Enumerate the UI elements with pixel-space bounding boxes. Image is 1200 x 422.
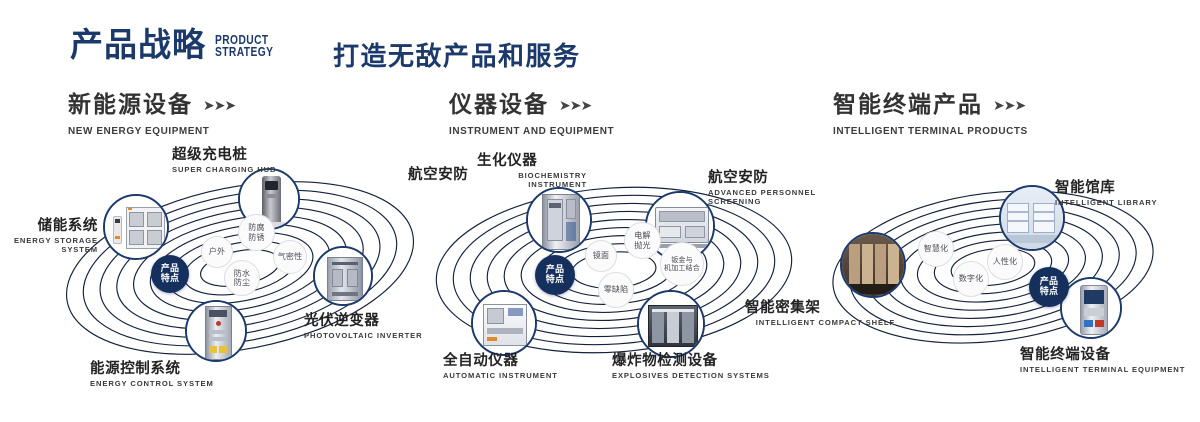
caption-en: INTELLIGENT TERMINAL EQUIPMENT	[1020, 365, 1200, 374]
bubble-product-features[interactable]: 产品 特点	[151, 255, 189, 293]
node-automatic-instrument[interactable]	[471, 290, 537, 356]
battery-cabinet-icon	[105, 196, 167, 258]
bubble-label: 数字化	[959, 274, 984, 284]
kiosk-terminal-icon	[1062, 279, 1120, 337]
section-title-cn: 新能源设备	[68, 94, 193, 117]
bubble-label: 防腐 防锈	[248, 223, 264, 242]
bubble-label: 智慧化	[924, 244, 949, 254]
bubble-label: 电解 抛光	[634, 231, 650, 250]
infographic-page: 产品战略 PRODUCT STRATEGY 打造无敌产品和服务 新能源设备 ➤➤…	[0, 0, 1200, 422]
bubble-label-line2: 特点	[161, 274, 179, 285]
caption-en: AUTOMATIC INSTRUMENT	[443, 371, 593, 380]
bubble-label-line2: 特点	[1040, 287, 1058, 298]
control-cabinet-icon	[187, 302, 245, 360]
bubble-feature-airtight[interactable]: 气密性	[273, 240, 307, 274]
section-title-new-energy: 新能源设备 ➤➤➤ NEW ENERGY EQUIPMENT	[68, 94, 235, 137]
bubble-label: 防水 防尘	[234, 269, 250, 288]
bubble-product-features[interactable]: 产品 特点	[535, 255, 575, 295]
section-title-cn: 智能终端产品	[833, 94, 983, 117]
node-photovoltaic-inverter[interactable]	[313, 246, 373, 306]
caption-en: INTELLIGENT LIBRARY	[1055, 198, 1185, 207]
node-intelligent-compact-shelf[interactable]	[840, 232, 906, 298]
caption-cn: 生化仪器	[477, 153, 587, 169]
bubble-label: 镜面	[593, 251, 609, 261]
bubble-feature-zero-defect[interactable]: 零缺陷	[598, 272, 634, 308]
caption-intelligent-compact-shelf: 智能密集架 INTELLIGENT COMPACT SHELF	[745, 300, 895, 327]
biochemistry-instrument-icon	[528, 189, 590, 251]
section-title-en: INTELLIGENT TERMINAL PRODUCTS	[833, 125, 1028, 137]
page-title: 产品战略 PRODUCT STRATEGY	[70, 28, 286, 61]
caption-intelligent-terminal-equipment: 智能终端设备 INTELLIGENT TERMINAL EQUIPMENT	[1020, 347, 1200, 374]
caption-en: INTELLIGENT COMPACT SHELF	[745, 318, 895, 327]
bubble-feature-intelligent[interactable]: 智慧化	[918, 231, 954, 267]
node-energy-storage-system[interactable]	[103, 194, 169, 260]
library-shelf-icon	[1001, 187, 1063, 249]
bubble-feature-sheetmetal-machining[interactable]: 钣金与 机加工结合	[660, 242, 704, 286]
caption-biochemistry-instrument: 生化仪器 BIOCHEMISTRY INSTRUMENT	[477, 153, 587, 189]
caption-cn: 储能系统	[0, 218, 98, 234]
bubble-label: 气密性	[278, 252, 303, 262]
bubble-label: 户外	[209, 247, 225, 257]
caption-cn: 智能密集架	[745, 300, 895, 316]
caption-cn: 智能馆库	[1055, 180, 1185, 196]
bubble-label-line1: 产品	[161, 264, 179, 275]
caption-cn: 全自动仪器	[443, 353, 593, 369]
page-title-en-line2: STRATEGY	[215, 47, 273, 59]
automatic-instrument-icon	[473, 292, 535, 354]
caption-automatic-instrument: 全自动仪器 AUTOMATIC INSTRUMENT	[443, 353, 593, 380]
bubble-feature-anticorrosion[interactable]: 防腐 防锈	[238, 214, 275, 251]
page-title-en: PRODUCT STRATEGY	[215, 35, 273, 61]
compact-shelf-icon	[842, 234, 904, 296]
caption-en: EXPLOSIVES DETECTION SYSTEMS	[612, 371, 802, 380]
page-title-cn: 产品战略	[70, 28, 206, 61]
chevron-right-icon: ➤➤➤	[203, 98, 235, 114]
caption-energy-storage-system: 储能系统 ENERGY STORAGE SYSTEM	[0, 218, 98, 254]
bubble-feature-electropolishing[interactable]: 电解 抛光	[624, 222, 661, 259]
caption-energy-control-system: 能源控制系统 ENERGY CONTROL SYSTEM	[90, 361, 260, 388]
inverter-cabinet-icon	[315, 248, 371, 304]
caption-super-charging-hub: 超级充电桩 SUPER CHARGING HUB	[172, 147, 312, 174]
node-explosives-detection-systems[interactable]	[637, 290, 705, 358]
caption-cn: 智能终端设备	[1020, 347, 1200, 363]
cluster-instrument: 航空安防 生化仪器 BIOCHEMISTRY INSTRUMENT	[432, 150, 802, 390]
bubble-label: 零缺陷	[604, 285, 629, 295]
section-title-en: NEW ENERGY EQUIPMENT	[68, 125, 227, 137]
caption-explosives-detection-systems: 爆炸物检测设备 EXPLOSIVES DETECTION SYSTEMS	[612, 353, 802, 380]
bubble-label-line1: 产品	[546, 265, 564, 276]
cluster-intelligent-terminal: 智能馆库 INTELLIGENT LIBRARY 智能密集架 INTELLIGE…	[815, 155, 1185, 390]
bubble-feature-digital[interactable]: 数字化	[953, 261, 989, 297]
bubble-product-features[interactable]: 产品 特点	[1029, 267, 1069, 307]
caption-cn: 超级充电桩	[172, 147, 312, 163]
explosives-detector-icon	[639, 292, 703, 356]
bubble-feature-waterproof[interactable]: 防水 防尘	[224, 260, 260, 296]
section-title-cn: 仪器设备	[449, 94, 549, 117]
caption-intelligent-library: 智能馆库 INTELLIGENT LIBRARY	[1055, 180, 1185, 207]
section-title-en: INSTRUMENT AND EQUIPMENT	[449, 125, 614, 137]
caption-en: SUPER CHARGING HUB	[172, 165, 312, 174]
bubble-label-line2: 特点	[546, 275, 564, 286]
caption-cn: 能源控制系统	[90, 361, 260, 377]
cluster-new-energy: 储能系统 ENERGY STORAGE SYSTEM 超级充电桩 SUPER C…	[55, 150, 425, 390]
bubble-feature-outdoor[interactable]: 户外	[201, 236, 233, 268]
bubble-label-line1: 产品	[1040, 277, 1058, 288]
caption-en: ENERGY CONTROL SYSTEM	[90, 379, 260, 388]
bubble-feature-mirror[interactable]: 镜面	[585, 240, 617, 272]
page-subtitle: 打造无敌产品和服务	[333, 36, 581, 73]
section-title-intelligent-terminal: 智能终端产品 ➤➤➤ INTELLIGENT TERMINAL PRODUCTS	[833, 94, 1038, 137]
chevron-right-icon: ➤➤➤	[559, 98, 591, 114]
bubble-feature-humanized[interactable]: 人性化	[987, 244, 1023, 280]
caption-en: BIOCHEMISTRY INSTRUMENT	[477, 171, 587, 189]
node-intelligent-terminal-equipment[interactable]	[1060, 277, 1122, 339]
node-biochemistry-instrument[interactable]	[526, 187, 592, 253]
bubble-label: 钣金与 机加工结合	[664, 256, 700, 273]
node-energy-control-system[interactable]	[185, 300, 247, 362]
chevron-right-icon: ➤➤➤	[993, 98, 1025, 114]
section-title-instrument: 仪器设备 ➤➤➤ INSTRUMENT AND EQUIPMENT	[449, 94, 623, 137]
bubble-label: 人性化	[993, 257, 1018, 267]
caption-en: ENERGY STORAGE SYSTEM	[0, 236, 98, 254]
caption-cn: 爆炸物检测设备	[612, 353, 802, 369]
